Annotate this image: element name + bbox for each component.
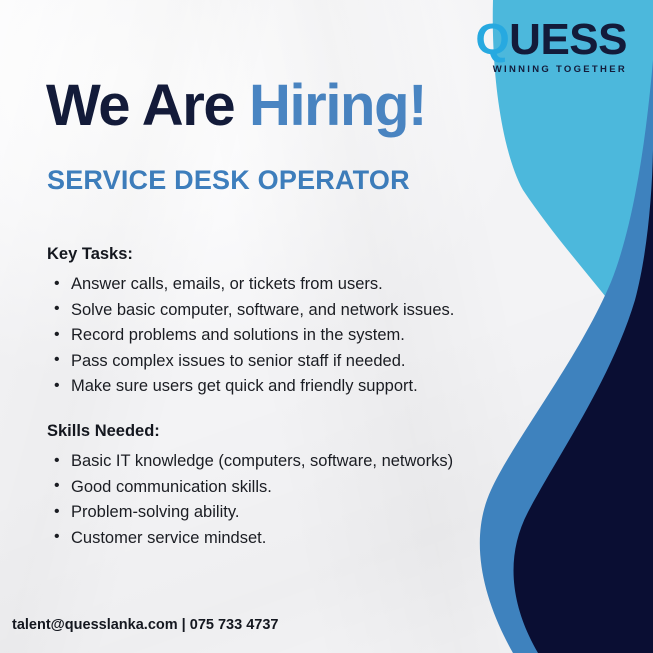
headline-we-are: We Are	[46, 73, 249, 138]
logo-tagline: WINNING TOGETHER	[475, 65, 627, 75]
job-title: SERVICE DESK OPERATOR	[47, 165, 410, 196]
decorative-shapes	[363, 0, 653, 653]
logo-letters-uess: UESS	[509, 15, 627, 64]
quess-logo: QUESS WINNING TOGETHER	[475, 18, 627, 75]
hiring-poster: QUESS WINNING TOGETHER We Are Hiring! SE…	[0, 0, 653, 653]
logo-wordmark: QUESS	[475, 18, 627, 62]
contact-footer: talent@quesslanka.com | 075 733 4737	[12, 617, 278, 633]
logo-letter-q: Q	[475, 15, 509, 64]
